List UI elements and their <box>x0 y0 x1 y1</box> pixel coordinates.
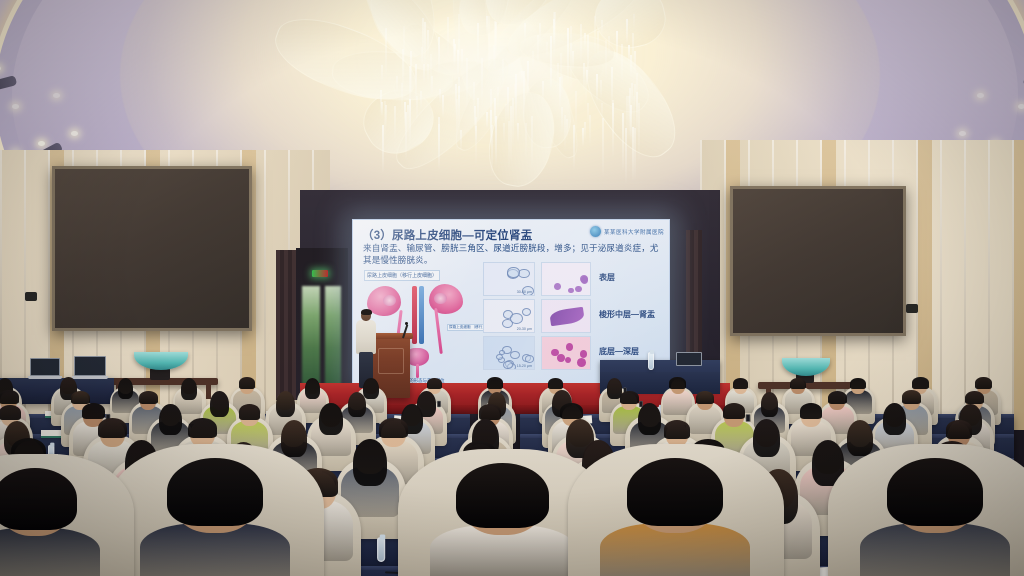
stained-cell-column <box>541 262 591 370</box>
right-side-screen <box>730 186 906 336</box>
attendee-hair <box>181 378 197 400</box>
head-table-bottle <box>648 352 654 370</box>
wall-wood-accent <box>1014 140 1024 430</box>
left-wall-speaker <box>25 292 37 301</box>
attendee-hair <box>761 392 779 417</box>
head-table-laptop <box>676 352 702 366</box>
attendee-hair <box>800 403 823 419</box>
water-bottle[interactable] <box>377 538 385 563</box>
attendee-hair <box>98 418 127 438</box>
attendee-hair <box>850 378 866 389</box>
conference-hall-photo: （3）尿路上皮细胞—可定位肾盂 某某医科大学附属医院 来自肾盂、输尿管、膀胱三角… <box>0 0 1024 576</box>
slide-institution-logo: 某某医科大学附属医院 <box>590 226 664 237</box>
bottle-cap <box>650 350 654 354</box>
cell-outline <box>507 267 519 277</box>
attendee-hair <box>560 403 583 419</box>
attendee-hair <box>479 404 501 419</box>
cell-outline <box>518 269 529 279</box>
wall-panel-seam <box>264 150 266 420</box>
attendee-hair <box>965 391 984 404</box>
attendee-hair <box>887 458 983 525</box>
attendee-hair <box>281 420 308 457</box>
stained-cell-panel <box>541 299 591 333</box>
stained-cell <box>580 350 588 358</box>
attendee-hair <box>319 403 342 435</box>
attendee-hair <box>487 377 503 388</box>
av-laptop-a[interactable] <box>30 358 60 376</box>
cell-outline <box>525 355 534 362</box>
ureter-right <box>434 308 443 354</box>
stage-left-curtain <box>276 250 296 400</box>
kidney-left-pelvis <box>383 295 396 306</box>
micrograph-panel: 30-40 μm <box>483 262 535 296</box>
attendee-hair <box>167 458 263 525</box>
lectern-front-panel <box>378 348 404 374</box>
attendee-hair <box>696 391 715 404</box>
micrograph-column: 30-40 μm20-30 μm15-20 μm <box>483 262 535 370</box>
cell-outline <box>510 313 523 324</box>
microphone-head-icon <box>405 322 408 325</box>
attendee-hair <box>239 377 256 389</box>
stained-cell <box>565 357 571 363</box>
attendee-hair <box>305 378 320 399</box>
attendee-hair <box>456 463 549 527</box>
attendee-hair <box>353 439 387 486</box>
attendee-hair <box>0 405 21 420</box>
cell-outline <box>510 351 520 359</box>
attendee-hair <box>118 378 133 399</box>
presenter-torso <box>356 320 376 354</box>
smartphone[interactable] <box>437 401 441 407</box>
attendee-hair <box>548 378 564 389</box>
attendee-hair <box>210 391 229 417</box>
recessed-downlight <box>1018 104 1024 109</box>
stained-cell <box>581 276 589 284</box>
stained-cell-panel <box>541 336 591 370</box>
wall-panel-seam <box>964 140 966 430</box>
attendee-hair <box>427 378 442 389</box>
foreground-attendee-left <box>140 456 290 576</box>
wall-panel-seam <box>940 140 942 430</box>
urethra <box>416 364 419 378</box>
attendee-torso <box>0 528 100 576</box>
attendee-hair <box>664 420 690 438</box>
attendee-hair <box>188 418 217 438</box>
foreground-attendee-center <box>430 461 575 576</box>
av-monitor[interactable] <box>74 356 106 376</box>
right-wall-speaker <box>906 304 918 313</box>
attendee-hair <box>902 390 921 404</box>
presenter-hair <box>361 309 372 315</box>
stained-cell <box>557 354 565 362</box>
stained-cell <box>577 358 586 367</box>
slide-caption-box: 尿路上皮细胞（移行上皮细胞） <box>364 270 440 281</box>
attendee-hair <box>0 468 77 530</box>
stained-cell <box>568 288 574 294</box>
stained-cell <box>554 283 561 290</box>
attendee-hair <box>0 390 19 404</box>
stained-cell <box>575 286 582 293</box>
cell-layer-label: 底层—深层 <box>599 346 639 357</box>
foreground-attendee-leopard <box>600 456 750 576</box>
attendee-hair <box>883 403 906 434</box>
micrograph-panel: 15-20 μm <box>483 336 535 370</box>
stained-cell <box>566 343 574 351</box>
presenter-speaker <box>356 310 376 388</box>
university-logo-icon <box>590 226 601 237</box>
attendee-hair <box>276 391 295 418</box>
attendee-hair <box>627 458 723 525</box>
foreground-attendee-far-left <box>0 466 100 576</box>
attendee-hair <box>975 377 991 389</box>
cell-outline <box>503 361 513 369</box>
attendee-hair <box>946 420 972 438</box>
cell-layer-label: 表层 <box>599 272 615 283</box>
cell-layer-label: 梭形中层—肾盂 <box>599 309 655 320</box>
bottle-cap <box>379 535 385 541</box>
cell-outline <box>522 308 531 316</box>
attendee-hair <box>669 377 685 389</box>
micrograph-scale-label: 15-20 μm <box>517 364 532 368</box>
micrograph-scale-label: 30-40 μm <box>517 290 532 294</box>
window-greenery-a <box>302 286 320 386</box>
attendee-hair <box>753 419 780 457</box>
window-greenery-b <box>325 286 341 386</box>
attendee-hair <box>790 378 806 389</box>
slide-logo-text: 某某医科大学附属医院 <box>604 228 664 236</box>
micrograph-panel: 20-30 μm <box>483 299 535 333</box>
vena-cava <box>419 286 424 344</box>
left-side-screen <box>52 166 252 331</box>
attendee-hair <box>733 378 748 389</box>
stained-cell-panel <box>541 262 591 296</box>
slide-title: （3）尿路上皮细胞—可定位肾盂 <box>362 227 577 243</box>
attendee-hair <box>139 391 158 404</box>
attendee-hair <box>723 403 746 419</box>
stained-cell <box>549 307 585 327</box>
attendee-hair <box>912 377 928 388</box>
micrograph-scale-label: 20-30 μm <box>517 327 532 331</box>
exit-sign-icon <box>312 270 328 277</box>
attendee-hair <box>239 404 261 419</box>
attendee-hair <box>379 418 408 438</box>
recessed-downlight <box>977 93 984 98</box>
foreground-attendee-right <box>860 456 1010 576</box>
kidney-right-pelvis <box>434 293 447 304</box>
